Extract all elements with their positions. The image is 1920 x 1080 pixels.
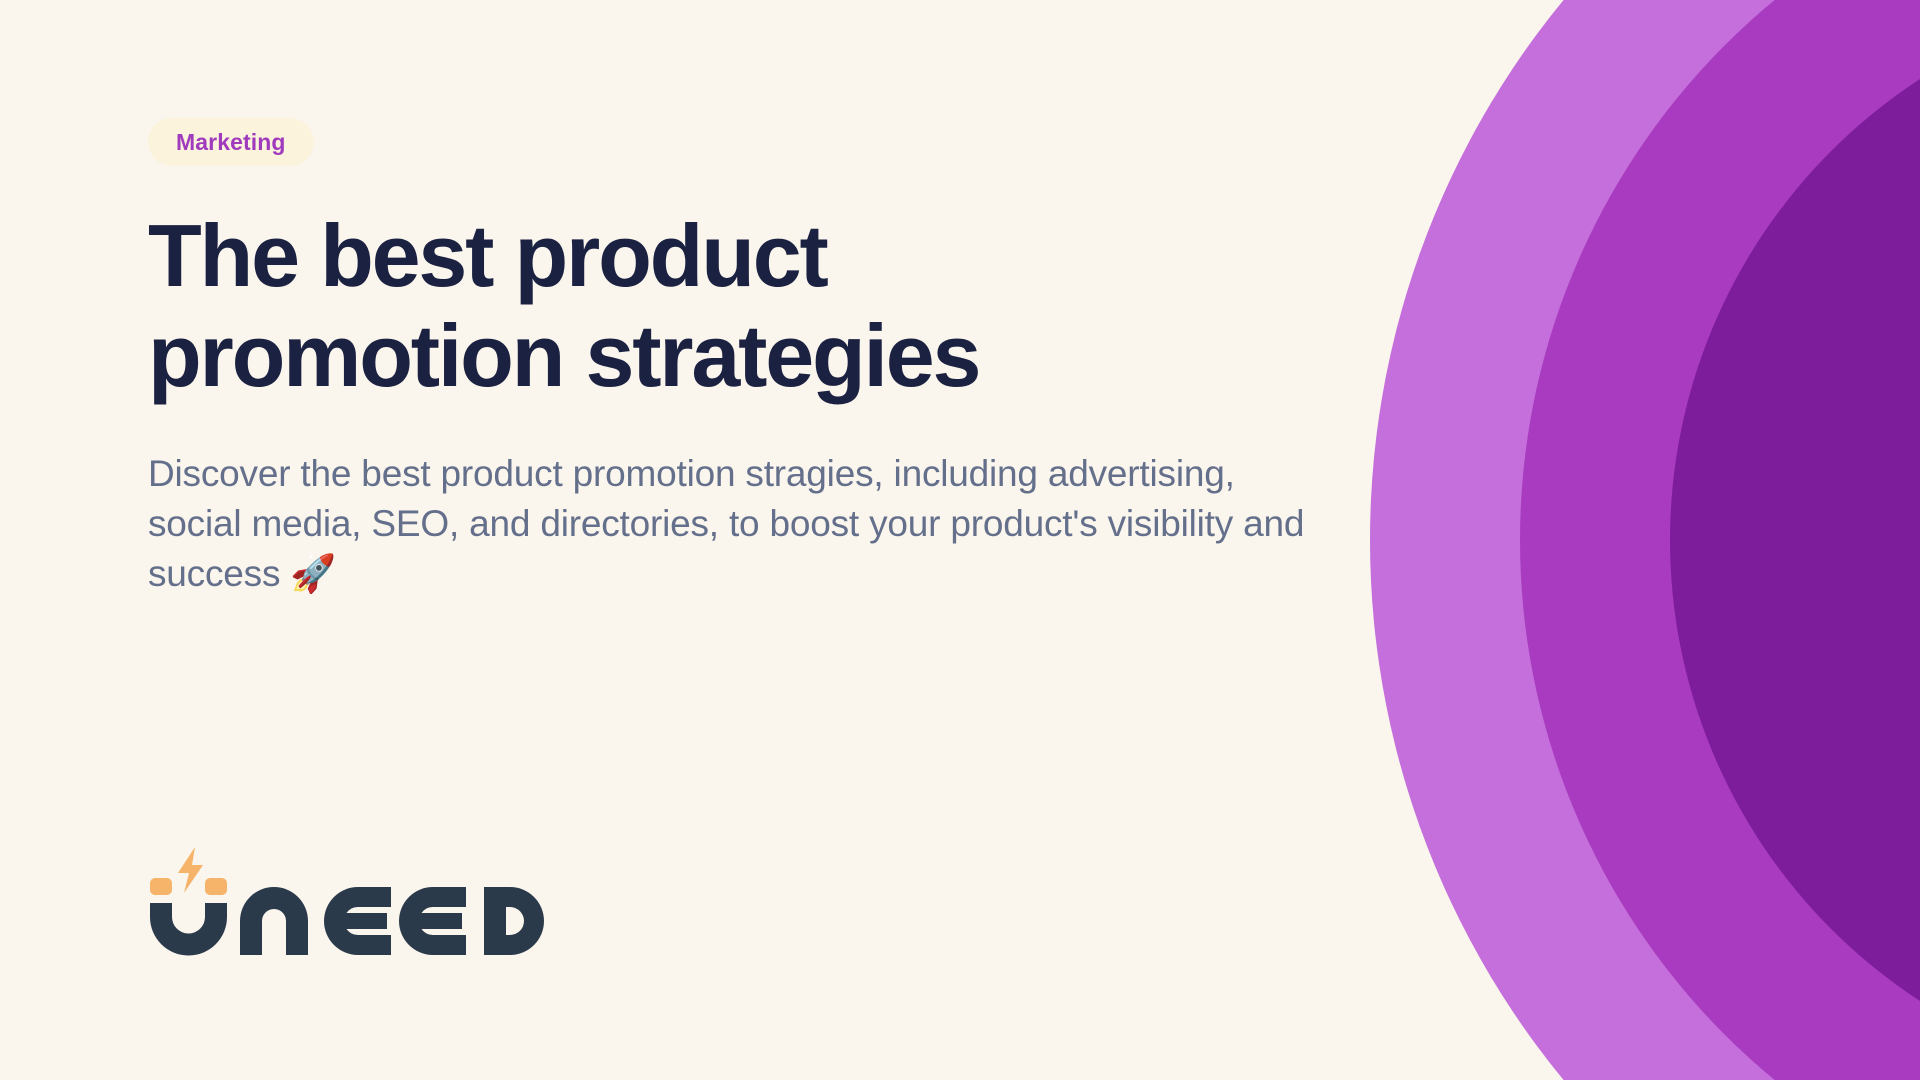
- magnet-pole-left: [150, 878, 172, 895]
- category-badge[interactable]: Marketing: [148, 118, 314, 166]
- ring-middle: [1520, 0, 1920, 1080]
- uneed-logo[interactable]: [148, 845, 568, 965]
- logo-letter-e-2: [399, 887, 466, 955]
- logo-letter-u: [150, 903, 227, 956]
- logo-letter-e-1: [324, 887, 391, 955]
- logo-letter-n: [240, 887, 308, 955]
- logo-letter-d: [484, 887, 544, 955]
- content-column: Marketing The best product promotion str…: [148, 118, 1328, 600]
- page-subtitle: Discover the best product promotion stra…: [148, 449, 1308, 600]
- category-badge-label: Marketing: [176, 131, 286, 154]
- magnet-pole-right: [205, 878, 227, 895]
- lightning-bolt-icon: [178, 847, 203, 893]
- ring-inner: [1670, 0, 1920, 1080]
- ring-outer: [1370, 0, 1920, 1080]
- uneed-logo-svg: [148, 845, 568, 965]
- page-title: The best product promotion strategies: [148, 206, 1208, 407]
